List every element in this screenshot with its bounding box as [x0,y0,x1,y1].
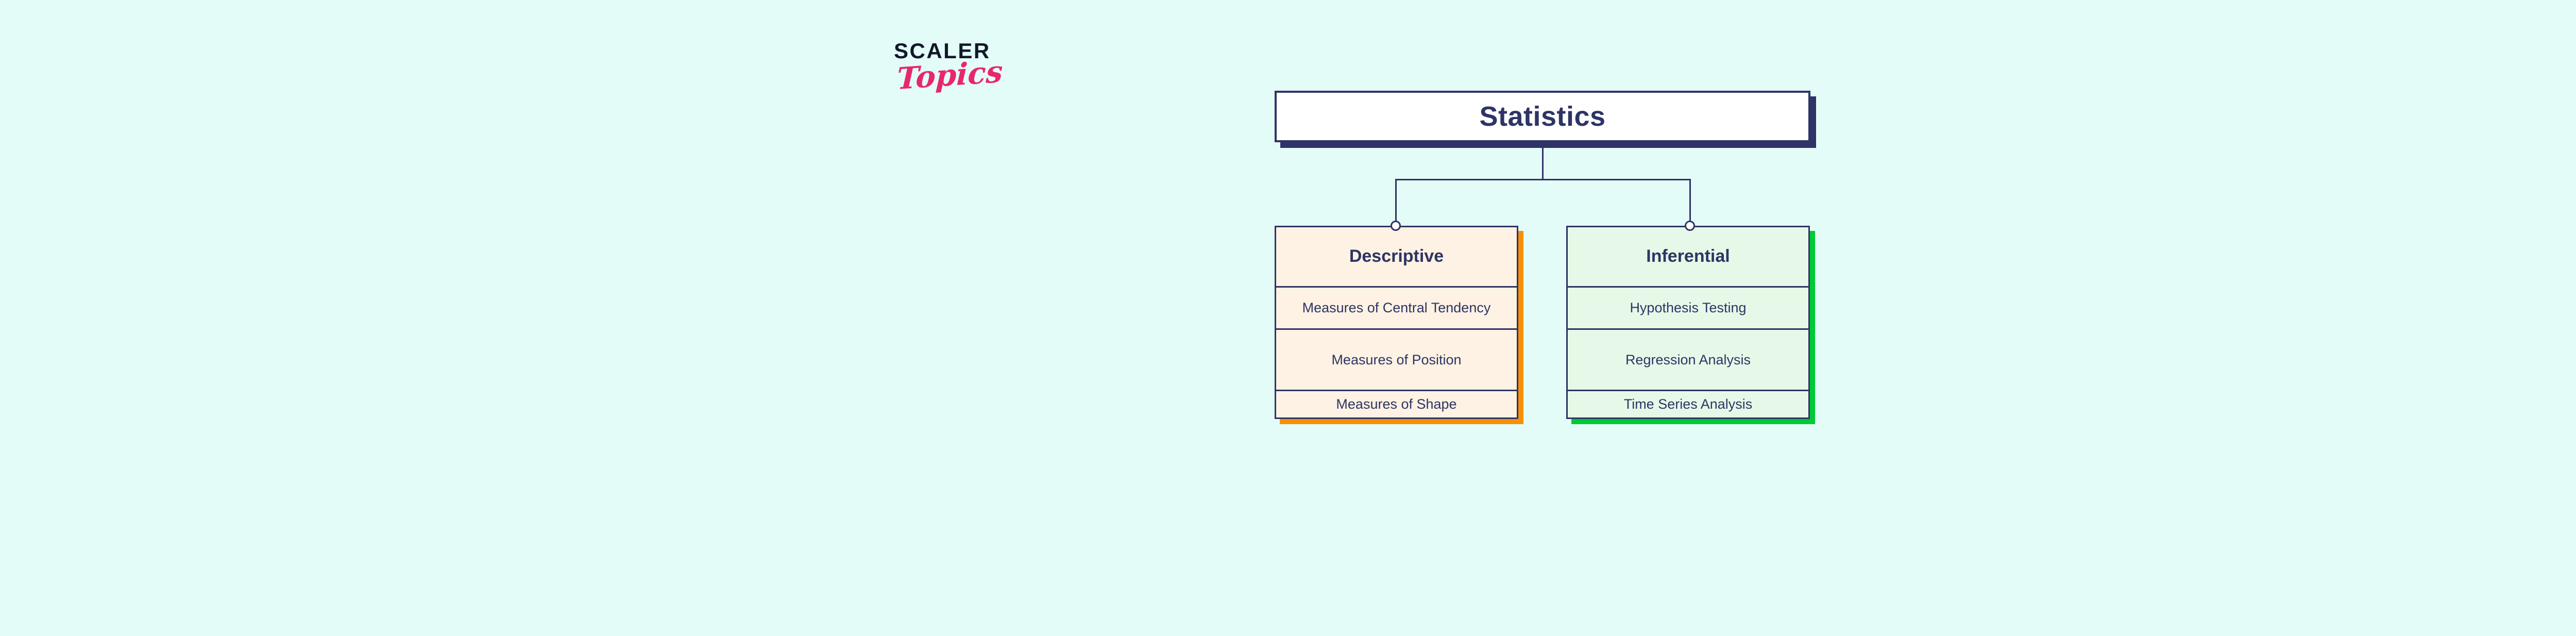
branch-header-label: Descriptive [1349,247,1444,266]
branch-item[interactable]: Hypothesis Testing [1568,288,1808,330]
branch-item-label: Measures of Central Tendency [1302,299,1491,317]
connector-dot-icon-right [1685,221,1695,231]
branch-item[interactable]: Measures of Shape [1276,391,1517,417]
branch-item-label: Measures of Shape [1336,395,1456,413]
branch-item-label: Regression Analysis [1625,351,1751,369]
branch-header-descriptive: Descriptive [1276,227,1517,288]
branch-item[interactable]: Regression Analysis [1568,330,1808,391]
statistics-tree-diagram: Statistics Descriptive Measures of Centr… [0,0,2576,636]
branch-item[interactable]: Measures of Central Tendency [1276,288,1517,330]
connector-drop-line-left [1395,179,1397,221]
branch-item-label: Time Series Analysis [1624,395,1753,413]
connector-drop-line-right [1689,179,1691,221]
root-node-statistics[interactable]: Statistics [1275,91,1810,142]
connector-trunk-line [1542,148,1544,180]
connector-dot-icon-left [1391,221,1401,231]
branch-header-label: Inferential [1646,247,1730,266]
connector-horizontal-bar [1395,179,1691,180]
branch-header-inferential: Inferential [1568,227,1808,288]
branch-item-label: Measures of Position [1331,351,1461,369]
diagram-canvas: SCALER Topics Statistics Descriptive Mea… [0,0,2576,636]
branch-item-label: Hypothesis Testing [1630,299,1746,317]
branch-item[interactable]: Measures of Position [1276,330,1517,391]
branch-card-descriptive[interactable]: Descriptive Measures of Central Tendency… [1275,226,1518,419]
branch-card-inferential[interactable]: Inferential Hypothesis Testing Regressio… [1566,226,1810,419]
root-node-label: Statistics [1479,103,1605,130]
branch-item[interactable]: Time Series Analysis [1568,391,1808,417]
